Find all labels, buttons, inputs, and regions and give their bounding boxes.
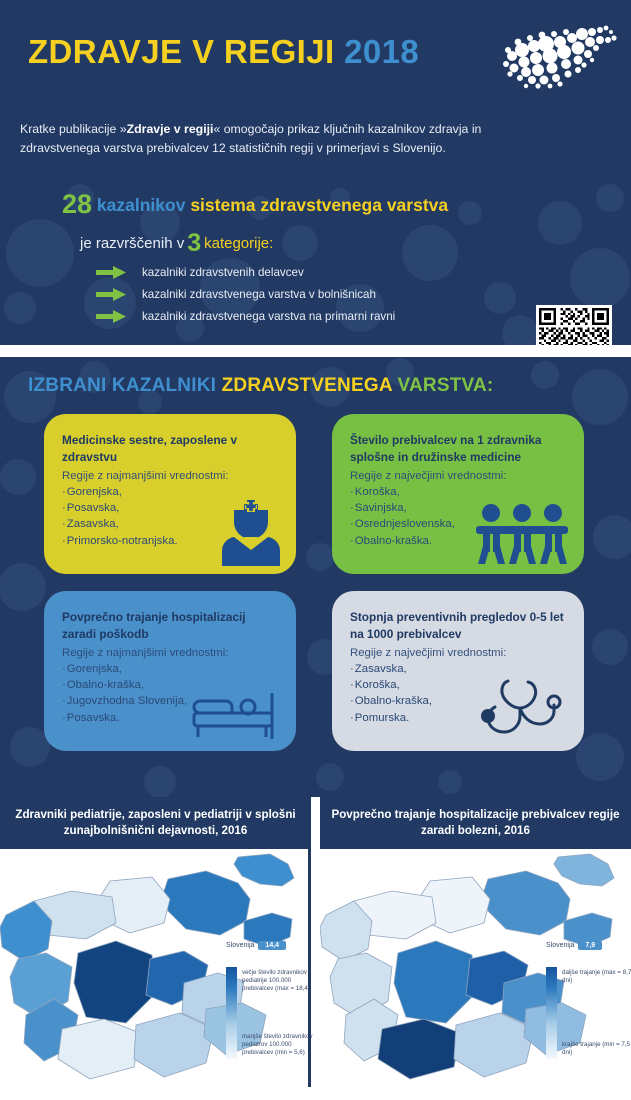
category-label: kazalniki zdravstvenega varstva v bolniš…	[142, 288, 376, 301]
region-item: Zasavska,	[350, 661, 568, 677]
slovenia-value: 14,4	[258, 941, 286, 950]
arrow-right-icon	[96, 310, 126, 323]
legend-gradient-bar	[226, 967, 237, 1059]
indicator-card-injury-stay[interactable]: Povprečno trajanje hospitalizacij zaradi…	[44, 591, 296, 751]
header-banner: ZDRAVJE V REGIJI 2018	[0, 0, 631, 103]
region-item: Primorsko-notranjska.	[62, 533, 280, 549]
legend-min-label: manjše število zdravnikov pediatrov 100.…	[242, 1033, 314, 1057]
categories-word: kategorije:	[204, 235, 273, 252]
legend-gradient-bar	[546, 967, 557, 1059]
region-item: Gorenjska,	[62, 661, 280, 677]
region-item: Obalno-kraška,	[350, 693, 568, 709]
indicators-section: IZBRANI KAZALNIKI ZDRAVSTVENEGA VARSTVA:…	[0, 357, 631, 797]
region-item: Osrednjeslovenska,	[350, 516, 568, 532]
section-title-part2: ZDRAVSTVENEGA	[222, 375, 392, 396]
slovenia-value: 7,9	[578, 941, 602, 950]
legend-max-label: daljše trajanje (max = 8,7 dni)	[562, 969, 631, 985]
title-year: 2018	[344, 33, 419, 70]
slovenia-value-badge: Slovenija 7,9	[546, 941, 602, 950]
card-title: Stopnja preventivnih pregledov 0-5 let n…	[350, 609, 568, 643]
section-title: IZBRANI KAZALNIKI ZDRAVSTVENEGA VARSTVA:	[28, 375, 493, 397]
map-legend: daljše trajanje (max = 8,7 dni) krajše t…	[546, 967, 631, 1059]
category-item: kazalniki zdravstvenega varstva na prima…	[96, 305, 395, 327]
page-title: ZDRAVJE V REGIJI 2018	[28, 33, 419, 71]
category-item: kazalniki zdravstvenih delavcev	[96, 261, 395, 283]
qr-block: obcine.nijz.si f	[536, 305, 616, 345]
indicator-word: kazalnikov	[97, 195, 186, 215]
infographic-page: ZDRAVJE V REGIJI 2018	[0, 0, 631, 1100]
maps-section: Zdravniki pediatrije, zaposleni v pediat…	[0, 797, 631, 1092]
region-item: Posavska.	[62, 710, 280, 726]
indicator-cards-grid: Medicinske sestre, zaposlene v zdravstvu…	[44, 414, 584, 751]
card-subtitle: Regije z najmanjšimi vrednostmi:	[62, 468, 280, 485]
slovenia-dot-map-icon	[492, 20, 620, 92]
slovenia-label: Slovenija	[546, 942, 574, 949]
category-item: kazalniki zdravstvenega varstva v bolniš…	[96, 283, 395, 305]
region-item: Posavska,	[62, 500, 280, 516]
section-divider	[0, 345, 631, 357]
panel-divider	[308, 849, 311, 1087]
legend-labels: daljše trajanje (max = 8,7 dni) krajše t…	[562, 967, 631, 1059]
map-legend: večje število zdravnikov pediatrije 100.…	[226, 967, 314, 1059]
card-region-list: Gorenjska, Obalno-kraška, Jugovzhodna Sl…	[62, 661, 280, 726]
legend-min-label: krajše trajanje (min = 7,5 dni)	[562, 1041, 631, 1057]
region-item: Gorenjska,	[62, 484, 280, 500]
region-item: Pomurska.	[350, 710, 568, 726]
arrow-right-icon	[96, 288, 126, 301]
region-item: Zasavska,	[62, 516, 280, 532]
card-region-list: Zasavska, Koroška, Obalno-kraška, Pomurs…	[350, 661, 568, 726]
card-title: Povprečno trajanje hospitalizacij zaradi…	[62, 609, 280, 643]
category-count: 3	[184, 229, 204, 257]
legend-max-label: večje število zdravnikov pediatrije 100.…	[242, 969, 314, 993]
card-subtitle: Regije z največjimi vrednostmi:	[350, 645, 568, 662]
region-item: Savinjska,	[350, 500, 568, 516]
indicators-line: 28 kazalnikov sistema zdravstvenega vars…	[62, 189, 448, 220]
map-body: Slovenija 14,4 večje število zdravnikov …	[0, 849, 311, 1087]
slovenia-label: Slovenija	[226, 942, 254, 949]
map-body: Slovenija 7,9 daljše trajanje (max = 8,7…	[320, 849, 631, 1087]
categories-line: je razvrščenih v3kategorije:	[80, 229, 273, 258]
intro-text-bold: Zdravje v regiji	[127, 122, 214, 136]
card-region-list: Gorenjska, Posavska, Zasavska, Primorsko…	[62, 484, 280, 549]
category-label: kazalniki zdravstvenega varstva na prima…	[142, 310, 395, 323]
region-item: Obalno-kraška.	[350, 533, 568, 549]
indicator-rest: sistema zdravstvenega varstva	[190, 195, 448, 215]
categories-prefix: je razvrščenih v	[80, 235, 184, 252]
map-title: Povprečno trajanje hospitalizacije prebi…	[320, 797, 631, 849]
region-item: Koroška,	[350, 484, 568, 500]
section-title-part1: IZBRANI KAZALNIKI	[28, 375, 216, 396]
indicator-card-gp-ratio[interactable]: Število prebivalcev na 1 zdravnika sploš…	[332, 414, 584, 574]
region-item: Koroška,	[350, 677, 568, 693]
card-subtitle: Regije z najmanjšimi vrednostmi:	[62, 645, 280, 662]
category-label: kazalniki zdravstvenih delavcev	[142, 266, 304, 279]
region-item: Jugovzhodna Slovenija,	[62, 693, 280, 709]
card-title: Medicinske sestre, zaposlene v zdravstvu	[62, 432, 280, 466]
indicator-card-preventive[interactable]: Stopnja preventivnih pregledov 0-5 let n…	[332, 591, 584, 751]
map-title: Zdravniki pediatrije, zaposleni v pediat…	[0, 797, 311, 849]
card-subtitle: Regije z največjimi vrednostmi:	[350, 468, 568, 485]
indicator-card-nurses[interactable]: Medicinske sestre, zaposlene v zdravstvu…	[44, 414, 296, 574]
region-item: Obalno-kraška,	[62, 677, 280, 693]
card-title: Število prebivalcev na 1 zdravnika sploš…	[350, 432, 568, 466]
map-panel-pediatricians: Zdravniki pediatrije, zaposleni v pediat…	[0, 797, 311, 1092]
legend-labels: večje število zdravnikov pediatrije 100.…	[242, 967, 314, 1059]
section-title-part3: VARSTVA:	[398, 375, 494, 396]
slovenia-value-badge: Slovenija 14,4	[226, 941, 286, 950]
qr-code-icon[interactable]	[536, 305, 612, 345]
card-region-list: Koroška, Savinjska, Osrednjeslovenska, O…	[350, 484, 568, 549]
indicator-count: 28	[62, 189, 92, 219]
arrow-right-icon	[96, 266, 126, 279]
intro-section: Kratke publikacije »Zdravje v regiji« om…	[0, 103, 631, 345]
intro-text-before: Kratke publikacije »	[20, 122, 127, 136]
category-list: kazalniki zdravstvenih delavcev kazalnik…	[96, 261, 395, 327]
intro-paragraph: Kratke publikacije »Zdravje v regiji« om…	[20, 120, 535, 158]
map-panel-hospitalization: Povprečno trajanje hospitalizacije prebi…	[320, 797, 631, 1092]
title-main: ZDRAVJE V REGIJI	[28, 33, 335, 70]
